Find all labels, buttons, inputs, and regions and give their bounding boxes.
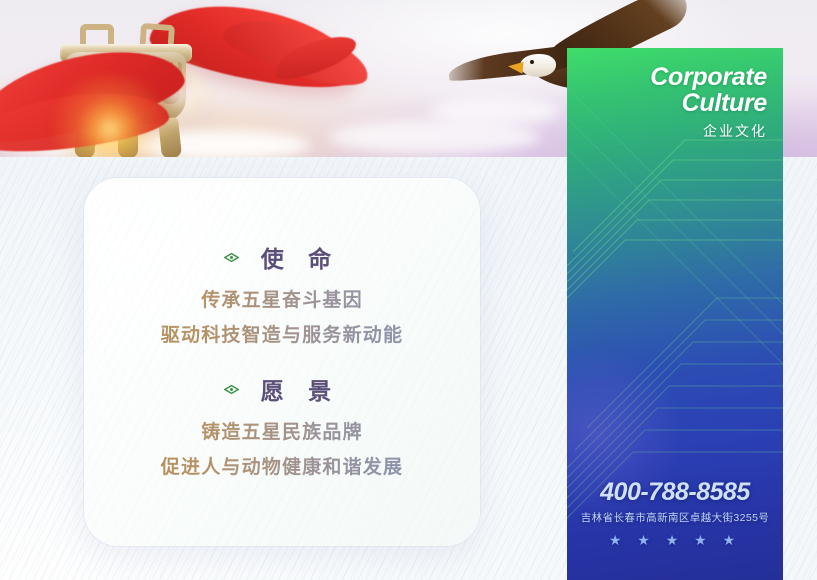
card-sheen [84,178,480,546]
mission-line-2: 驱动科技智造与服务新动能 [84,320,480,347]
mission-heading: 使 命 [252,240,340,274]
cloud-shape [330,120,540,154]
vision-heading-row: 愿 景 [84,372,480,406]
mission-heading-row: 使 命 [84,240,480,274]
vision-line-2: 促进人与动物健康和谐发展 [84,452,480,479]
culture-card: 使 命 传承五星奋斗基因 驱动科技智造与服务新动能 愿 景 铸造五星民族品牌 促… [84,178,480,546]
phone-number[interactable]: 400-788-8585 [567,478,783,507]
green-diamond-icon [224,385,239,394]
vision-section: 愿 景 铸造五星民族品牌 促进人与动物健康和谐发展 [84,372,480,479]
page-root: Corporate Culture 企业文化 400-788-8585 吉林省长… [0,0,817,580]
mission-line-1: 传承五星奋斗基因 [84,285,480,312]
contact-block: 400-788-8585 吉林省长春市高新南区卓越大街3255号 ★ ★ ★ ★… [567,478,783,549]
vision-heading: 愿 景 [252,372,340,406]
company-address: 吉林省长春市高新南区卓越大街3255号 [567,510,783,525]
eagle-eye [530,60,534,64]
eagle-head [520,54,556,77]
eagle-beak [507,60,523,74]
vision-line-1: 铸造五星民族品牌 [84,417,480,444]
star-rating: ★ ★ ★ ★ ★ [567,532,783,549]
green-diamond-icon [224,253,239,262]
mission-section: 使 命 传承五星奋斗基因 驱动科技智造与服务新动能 [84,240,480,347]
